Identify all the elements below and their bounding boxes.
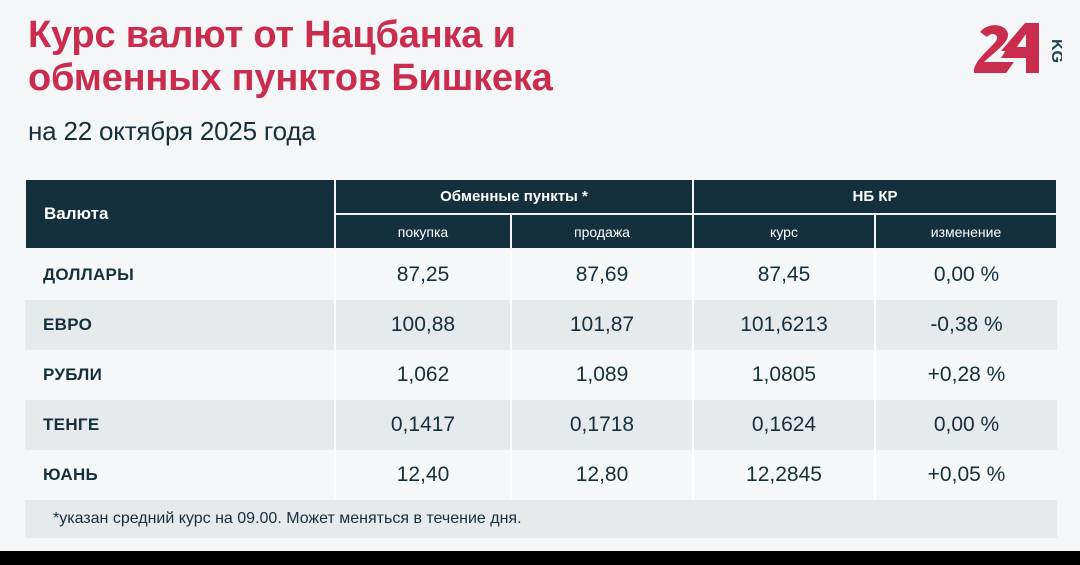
cell-buy: 100,88	[335, 300, 511, 350]
cell-change: 0,00 %	[875, 400, 1057, 450]
cell-sell: 101,87	[511, 300, 693, 350]
table-row: ЕВРО 100,88 101,87 101,6213 -0,38 %	[25, 300, 1057, 350]
page-title-line-1: Курс валют от Нацбанка и	[28, 14, 516, 56]
cell-buy: 0,1417	[335, 400, 511, 450]
cell-rate: 0,1624	[693, 400, 875, 450]
cell-change: +0,05 %	[875, 450, 1057, 500]
cell-currency: ЮАНЬ	[25, 450, 335, 500]
logo-digit-24-icon	[974, 23, 1039, 73]
page-subtitle: на 22 октября 2025 года	[28, 116, 848, 147]
cell-rate: 101,6213	[693, 300, 875, 350]
column-header-sell: продажа	[511, 214, 693, 249]
table-body: ДОЛЛАРЫ 87,25 87,69 87,45 0,00 % ЕВРО 10…	[25, 249, 1057, 500]
cell-currency: ЕВРО	[25, 300, 335, 350]
column-header-buy: покупка	[335, 214, 511, 249]
table-row: РУБЛИ 1,062 1,089 1,0805 +0,28 %	[25, 350, 1057, 400]
table-foot: *указан средний курс на 09.00. Может мен…	[25, 500, 1057, 538]
cell-buy: 87,25	[335, 249, 511, 300]
hero-block: Курс валют от Нацбанка и обменных пункто…	[28, 14, 848, 147]
table-row: ЮАНЬ 12,40 12,80 12,2845 +0,05 %	[25, 450, 1057, 500]
column-header-rate: курс	[693, 214, 875, 249]
table-head-row-groups: Валюта Обменные пункты * НБ КР	[25, 179, 1057, 214]
cell-sell: 0,1718	[511, 400, 693, 450]
cell-sell: 87,69	[511, 249, 693, 300]
cell-change: -0,38 %	[875, 300, 1057, 350]
logo-24kg: KG	[970, 18, 1062, 78]
cell-sell: 12,80	[511, 450, 693, 500]
table-row: ТЕНГЕ 0,1417 0,1718 0,1624 0,00 %	[25, 400, 1057, 450]
column-header-change: изменение	[875, 214, 1057, 249]
table-row: ДОЛЛАРЫ 87,25 87,69 87,45 0,00 %	[25, 249, 1057, 300]
cell-change: +0,28 %	[875, 350, 1057, 400]
table-footnote: *указан средний курс на 09.00. Может мен…	[25, 500, 1057, 538]
cell-currency: ТЕНГЕ	[25, 400, 335, 450]
cell-currency: ДОЛЛАРЫ	[25, 249, 335, 300]
logo-suffix-kg: KG	[1048, 39, 1062, 63]
cell-rate: 1,0805	[693, 350, 875, 400]
column-group-exchange-offices: Обменные пункты *	[335, 179, 693, 214]
infographic-page: Курс валют от Нацбанка и обменных пункто…	[0, 0, 1080, 565]
column-group-nbkr: НБ КР	[693, 179, 1057, 214]
cell-sell: 1,089	[511, 350, 693, 400]
cell-buy: 12,40	[335, 450, 511, 500]
cell-change: 0,00 %	[875, 249, 1057, 300]
page-title: Курс валют от Нацбанка и обменных пункто…	[28, 14, 848, 100]
footnote-row: *указан средний курс на 09.00. Может мен…	[25, 500, 1057, 538]
cell-buy: 1,062	[335, 350, 511, 400]
cell-rate: 12,2845	[693, 450, 875, 500]
currency-rates-table: Валюта Обменные пункты * НБ КР покупка п…	[24, 178, 1058, 538]
table-head: Валюта Обменные пункты * НБ КР покупка п…	[25, 179, 1057, 249]
cell-rate: 87,45	[693, 249, 875, 300]
column-header-currency: Валюта	[25, 179, 335, 249]
bottom-bar	[0, 551, 1080, 565]
page-title-line-2: обменных пунктов Бишкека	[28, 57, 553, 99]
cell-currency: РУБЛИ	[25, 350, 335, 400]
